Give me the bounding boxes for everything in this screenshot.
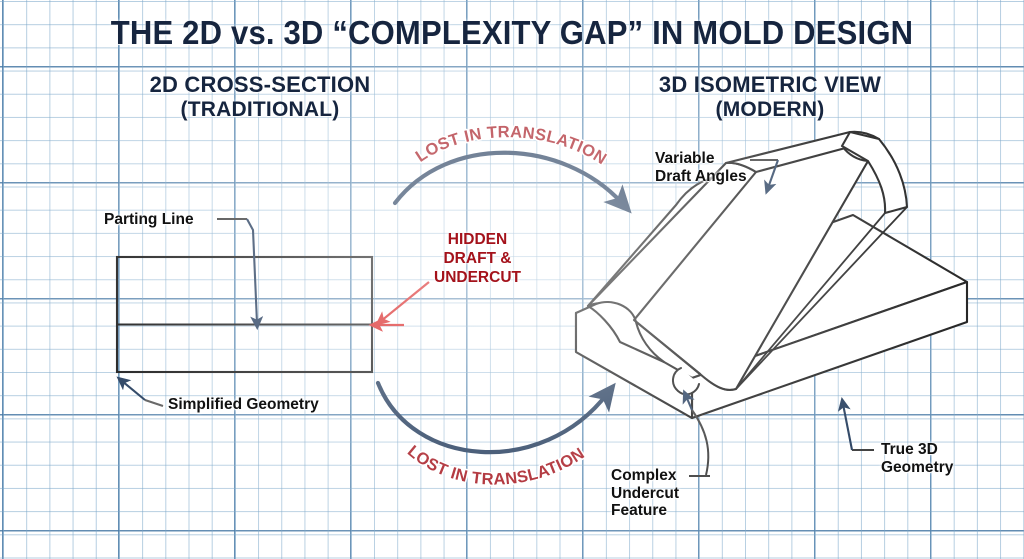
lost-in-translation-arc-bottom bbox=[378, 383, 607, 452]
true-3d-line1: True 3D bbox=[881, 441, 953, 459]
complex-undercut-line3: Feature bbox=[611, 502, 679, 520]
complex-undercut-leader bbox=[692, 410, 708, 475]
three-d-isometric-drawing bbox=[576, 132, 967, 418]
true-3d-line2: Geometry bbox=[881, 459, 953, 477]
hidden-callout-line3: UNDERCUT bbox=[420, 268, 535, 287]
complex-undercut-line1: Complex bbox=[611, 467, 679, 485]
left-panel-subheading: (TRADITIONAL) bbox=[80, 97, 440, 122]
hidden-callout-line1: HIDDEN bbox=[420, 230, 535, 249]
simplified-geometry-arrow bbox=[122, 381, 145, 400]
hidden-draft-arrows bbox=[376, 282, 429, 325]
variable-draft-angles-line1: Variable bbox=[655, 150, 747, 168]
arc-bottom-label: LOST IN TRANSLATION bbox=[404, 442, 588, 489]
hidden-draft-arrow-diagonal bbox=[381, 282, 429, 321]
simplified-geometry-label: Simplified Geometry bbox=[168, 396, 319, 414]
two-d-cross-section-drawing bbox=[117, 257, 372, 372]
cross-section-outline bbox=[117, 257, 372, 372]
complex-undercut-feature-label: Complex Undercut Feature bbox=[611, 467, 679, 520]
hidden-draft-undercut-callout: HIDDEN DRAFT & UNDERCUT bbox=[420, 230, 535, 287]
right-panel-heading: 3D ISOMETRIC VIEW (MODERN) bbox=[590, 72, 950, 122]
page-title: THE 2D vs. 3D “COMPLEXITY GAP” IN MOLD D… bbox=[31, 14, 994, 52]
left-panel-heading-text: 2D CROSS-SECTION bbox=[80, 72, 440, 97]
left-panel-heading: 2D CROSS-SECTION (TRADITIONAL) bbox=[80, 72, 440, 122]
true-3d-arrow bbox=[843, 404, 852, 450]
right-panel-heading-text: 3D ISOMETRIC VIEW bbox=[590, 72, 950, 97]
complex-undercut-line2: Undercut bbox=[611, 485, 679, 503]
simplified-geometry-leader bbox=[145, 400, 163, 406]
diagram-canvas: LOST IN TRANSLATION LOST IN TRANSLATION bbox=[0, 0, 1024, 559]
parting-line-arrow bbox=[247, 219, 257, 323]
true-3d-geometry-label: True 3D Geometry bbox=[881, 441, 953, 476]
variable-draft-angles-line2: Draft Angles bbox=[655, 168, 747, 186]
parting-line-label: Parting Line bbox=[104, 211, 194, 229]
variable-draft-angles-label: Variable Draft Angles bbox=[655, 150, 747, 185]
hidden-callout-line2: DRAFT & bbox=[420, 249, 535, 268]
arc-top-label: LOST IN TRANSLATION bbox=[413, 123, 610, 168]
right-panel-subheading: (MODERN) bbox=[590, 97, 950, 122]
